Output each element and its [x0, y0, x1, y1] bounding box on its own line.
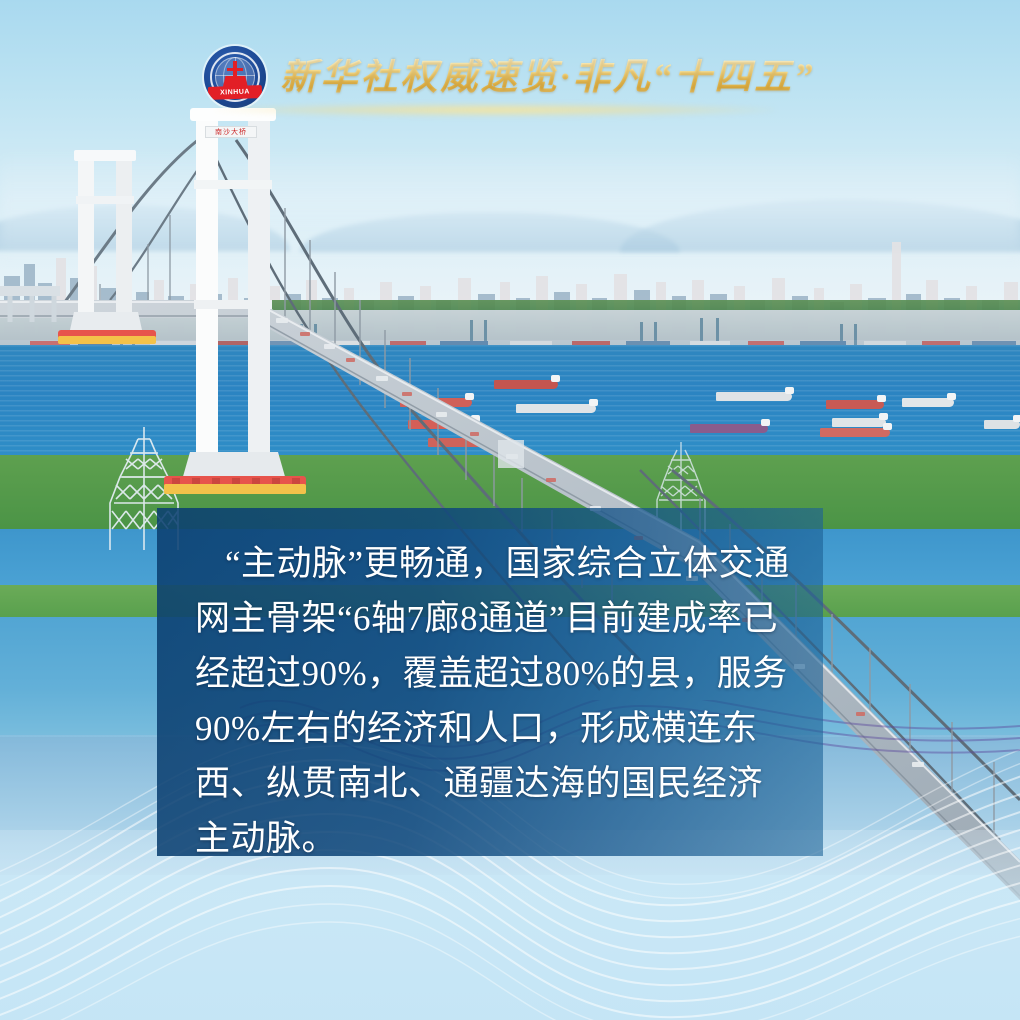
cargo-ship [408, 420, 478, 429]
cargo-ship [826, 400, 884, 409]
xinhua-logo-icon: XINHUA [204, 46, 266, 108]
caption-panel: “主动脉”更畅通，国家综合立体交通网主骨架“6轴7廊8通道”目前建成率已经超过9… [157, 508, 823, 856]
gold-light-streak [215, 104, 775, 116]
cargo-ship [832, 418, 886, 427]
cargo-ship [428, 438, 494, 447]
logo-tower-cross [227, 68, 243, 71]
cargo-ship [716, 392, 792, 401]
caption-text: “主动脉”更畅通，国家综合立体交通网主骨架“6轴7廊8通道”目前建成率已经超过9… [195, 536, 793, 866]
cargo-ship [494, 380, 558, 389]
port-terminal [0, 310, 1020, 348]
cargo-ship [400, 398, 472, 407]
cargo-ship [516, 404, 596, 413]
poster-title: 新华社权威速览·非凡“十四五” [280, 59, 815, 96]
cargo-ship [690, 424, 768, 433]
cargo-ship [902, 398, 954, 407]
bridge-name-text: 南沙大桥 [215, 127, 247, 137]
cargo-ship [984, 420, 1020, 429]
cargo-ship [820, 428, 890, 437]
logo-banner-text: XINHUA [220, 88, 250, 96]
logo-name-banner: XINHUA [208, 85, 262, 100]
poster-canvas: 南沙大桥 [0, 0, 1020, 1020]
bridge-name-sign: 南沙大桥 [205, 126, 257, 138]
